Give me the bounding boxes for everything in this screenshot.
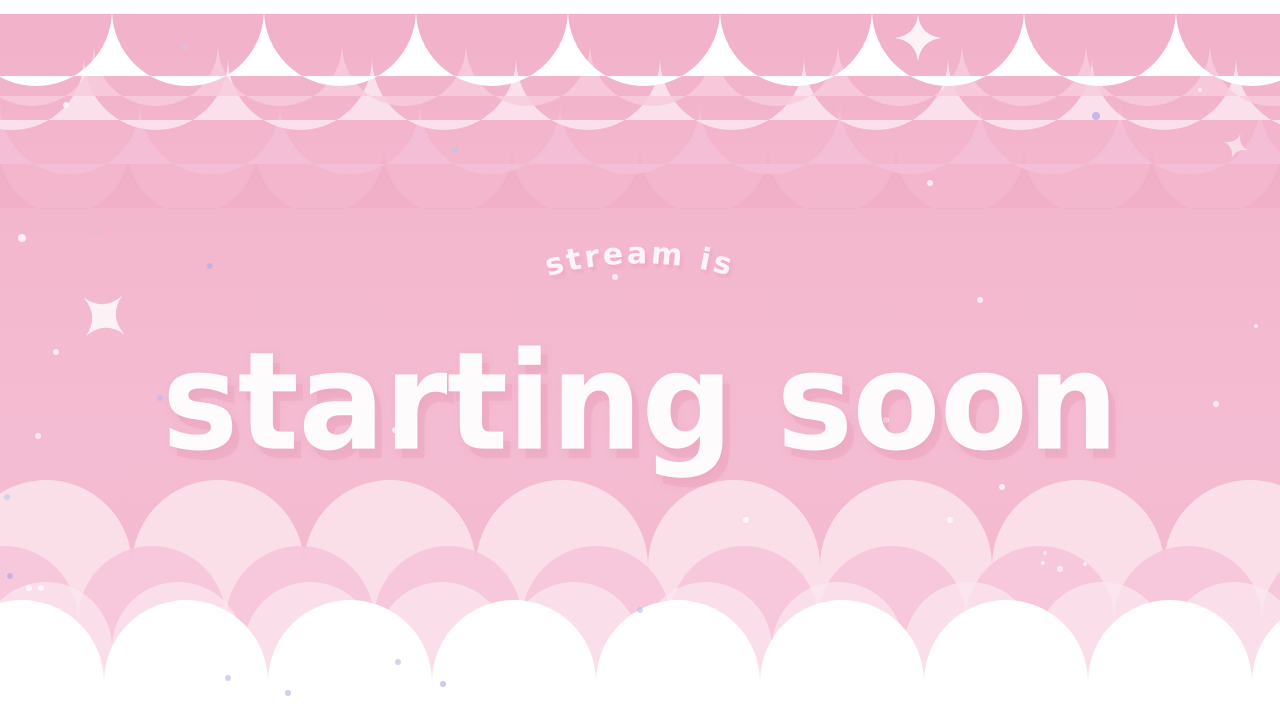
bottom-cloud-band xyxy=(0,470,1280,720)
speck-21 xyxy=(743,517,749,523)
sparkle-top-center xyxy=(895,15,941,61)
headline-group: stream is starting soon xyxy=(0,0,1280,720)
speck-8 xyxy=(207,263,213,269)
cloud-row-white-bottom xyxy=(0,600,1280,720)
speck-22 xyxy=(1041,561,1046,566)
speck-10 xyxy=(157,395,162,400)
speck-13 xyxy=(673,428,679,434)
eyebrow-text: stream is xyxy=(541,236,738,283)
speck-12 xyxy=(392,427,399,434)
stream-overlay-scene: stream is starting soon xyxy=(0,0,1280,720)
headline-text: starting soon xyxy=(162,335,1118,471)
speck-18 xyxy=(1254,324,1259,329)
cloud-row-pale-top xyxy=(0,58,1280,130)
top-cloud-band xyxy=(0,0,1280,210)
speck-14 xyxy=(612,274,617,279)
cloud-row-mid-top xyxy=(0,104,1280,174)
speck-6 xyxy=(18,234,26,242)
speck-29 xyxy=(38,585,44,591)
cloud-row-deep-top xyxy=(0,150,1280,210)
speck-32 xyxy=(285,690,290,695)
speck-5 xyxy=(927,180,933,186)
speck-3 xyxy=(1092,112,1099,119)
speck-1 xyxy=(63,102,70,109)
speck-11 xyxy=(35,433,41,439)
speck-25 xyxy=(1083,562,1088,567)
speck-30 xyxy=(27,624,33,630)
speck-7 xyxy=(94,230,99,235)
svg-text:stream is: stream is xyxy=(541,236,738,283)
speck-37 xyxy=(1117,644,1123,650)
speck-9 xyxy=(53,349,59,355)
cloud-row-pale-bottom xyxy=(0,480,1280,720)
speck-31 xyxy=(225,675,231,681)
cloud-row-mid-bottom xyxy=(0,546,1280,720)
sparkle-left-mid xyxy=(66,278,142,354)
speck-20 xyxy=(947,517,952,522)
speck-35 xyxy=(637,607,643,613)
speck-4 xyxy=(1198,88,1203,93)
speck-16 xyxy=(883,417,888,422)
speck-26 xyxy=(4,494,10,500)
cloud-row-white-top xyxy=(0,0,1280,86)
speck-23 xyxy=(1043,551,1047,555)
speck-34 xyxy=(440,681,446,687)
speck-33 xyxy=(395,659,401,665)
speck-17 xyxy=(1213,401,1220,408)
speck-36 xyxy=(444,653,449,658)
sparkle-bottom-right xyxy=(767,625,812,670)
speck-2 xyxy=(452,147,457,152)
speck-15 xyxy=(977,297,983,303)
speck-24 xyxy=(1057,566,1062,571)
eyebrow-arc: stream is xyxy=(430,253,850,333)
sparkle-right-upper xyxy=(1219,129,1252,162)
cloud-row-blush-bottom xyxy=(0,582,1280,720)
speck-27 xyxy=(7,573,14,580)
speck-19 xyxy=(999,484,1005,490)
cloud-row-blush-top xyxy=(0,44,1280,106)
speck-0 xyxy=(182,44,188,50)
speck-28 xyxy=(26,585,31,590)
